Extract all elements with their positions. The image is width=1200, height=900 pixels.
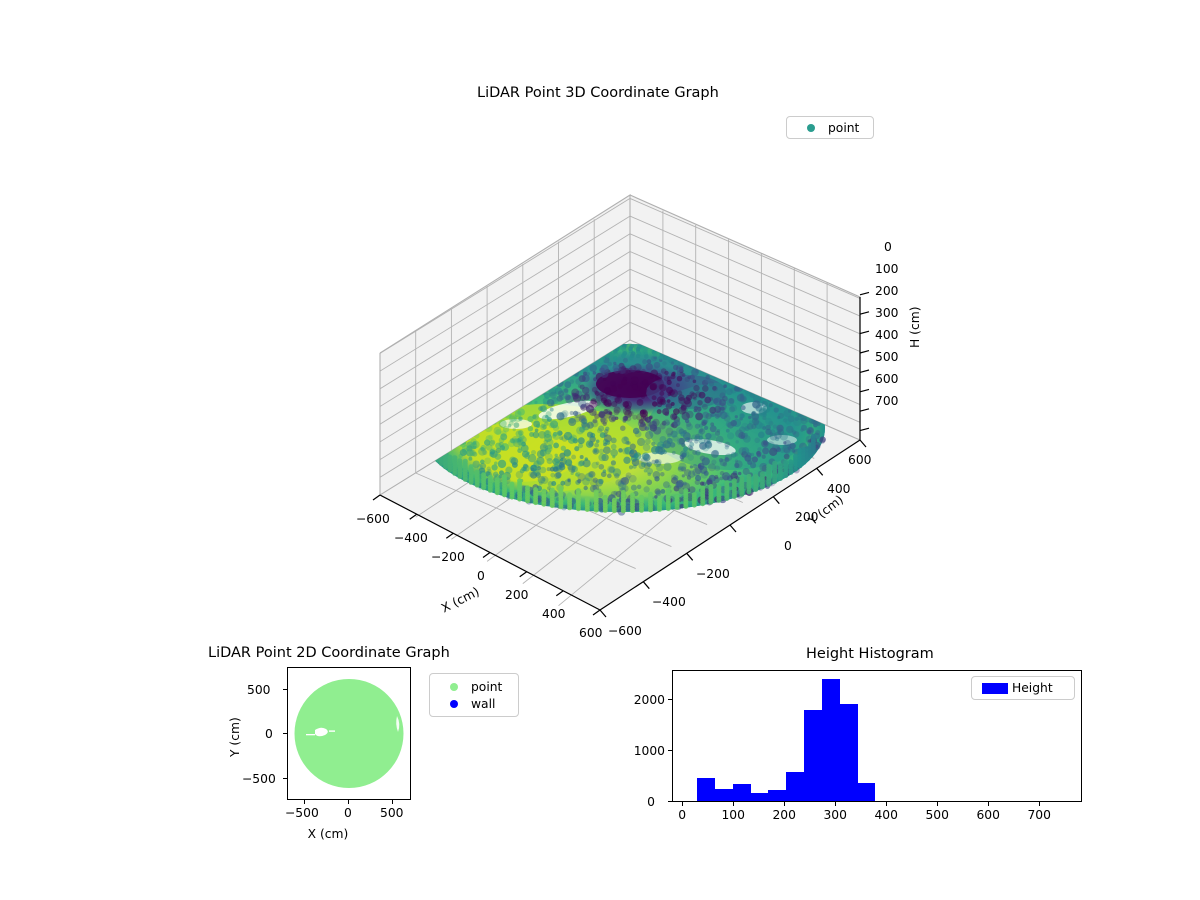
- chart3d-ytick-2: −200: [696, 567, 730, 581]
- chart3d-ytick-3: 0: [784, 539, 792, 553]
- histogram-bar: [822, 679, 840, 801]
- chart3d-xtick-3: 0: [477, 569, 485, 583]
- chart3d-xtick-4: 200: [505, 588, 528, 602]
- histogram-ytick-2: 2000: [634, 693, 665, 707]
- chart2d-yaxis-label: Y (cm): [228, 717, 242, 757]
- chart3d-ztick-1: 100: [875, 262, 898, 276]
- histogram-xtickmark-2: [784, 802, 785, 806]
- histogram-bar: [697, 778, 715, 801]
- chart3d-canvas: [330, 140, 890, 630]
- histogram-bar: [786, 772, 804, 801]
- chart2d-xtickmark-2: [392, 800, 393, 804]
- chart2d-ytick-0: −500: [242, 772, 276, 786]
- chart3d-title: LiDAR Point 3D Coordinate Graph: [477, 85, 719, 101]
- chart3d-ztick-0: 0: [884, 240, 892, 254]
- histogram-ytick-0: 0: [647, 795, 655, 809]
- chart2d-xtick-2: 500: [380, 806, 403, 820]
- chart3d-xtick-2: −200: [431, 550, 465, 564]
- chart3d-ztick-6: 600: [875, 372, 898, 386]
- histogram-xtickmark-5: [937, 802, 938, 806]
- legend-entry-point: point: [437, 678, 511, 695]
- histogram-ytickmark-2: [668, 699, 672, 700]
- histogram-xtickmark-3: [835, 802, 836, 806]
- histogram-ytickmark-0: [668, 801, 672, 802]
- histogram-bar: [751, 793, 769, 801]
- chart3d-ytick-0: −600: [608, 624, 642, 638]
- histogram-xtick-3: 300: [823, 808, 846, 822]
- chart3d-xtick-5: 400: [542, 607, 565, 621]
- histogram-bar: [715, 789, 733, 801]
- chart3d-ytick-6: 600: [848, 453, 871, 467]
- histogram-xtick-6: 600: [976, 808, 999, 822]
- chart3d-xtick-0: −600: [356, 512, 390, 526]
- histogram-ytick-1: 1000: [634, 744, 665, 758]
- point-marker-icon: [794, 124, 828, 132]
- histogram-legend[interactable]: Height: [971, 676, 1075, 700]
- histogram-bar: [858, 783, 876, 801]
- chart3d-legend[interactable]: point: [786, 116, 874, 139]
- chart2d-xtickmark-0: [304, 800, 305, 804]
- legend-entry-wall: wall: [437, 695, 511, 712]
- chart2d-xtick-1: 0: [344, 806, 352, 820]
- height-patch-icon: [978, 683, 1012, 694]
- chart3d-axes[interactable]: [330, 140, 890, 630]
- histogram-xtickmark-7: [1039, 802, 1040, 806]
- histogram-xtick-0: 0: [678, 808, 686, 822]
- histogram-xtick-4: 400: [874, 808, 897, 822]
- chart3d-ztick-4: 400: [875, 328, 898, 342]
- matplotlib-figure: LiDAR Point 3D Coordinate Graph point: [0, 0, 1200, 900]
- chart2d-ytickmark-1: [283, 733, 287, 734]
- histogram-bar: [804, 710, 822, 801]
- chart2d-axes[interactable]: [287, 667, 411, 800]
- histogram-xtick-1: 100: [721, 808, 744, 822]
- chart3d-xtick-1: −400: [394, 531, 428, 545]
- histogram-bar: [768, 790, 786, 801]
- chart3d-ztick-2: 200: [875, 284, 898, 298]
- legend-label-wall: wall: [471, 697, 495, 711]
- chart2d-ytick-1: 0: [265, 727, 273, 741]
- histogram-xtick-5: 500: [925, 808, 948, 822]
- chart2d-title: LiDAR Point 2D Coordinate Graph: [208, 645, 450, 661]
- chart3d-ztick-5: 500: [875, 350, 898, 364]
- chart2d-ytickmark-0: [283, 778, 287, 779]
- chart3d-ztick-7: 700: [875, 394, 898, 408]
- legend-label-point: point: [471, 680, 502, 694]
- histogram-xtickmark-6: [988, 802, 989, 806]
- point-marker-icon: [437, 683, 471, 691]
- chart2d-canvas: [288, 668, 410, 799]
- legend-label-point: point: [828, 121, 859, 135]
- chart3d-zaxis-label: H (cm): [908, 307, 922, 349]
- chart3d-ztick-3: 300: [875, 306, 898, 320]
- histogram-bar: [733, 784, 751, 801]
- wall-marker-icon: [437, 700, 471, 708]
- histogram-xtickmark-0: [682, 802, 683, 806]
- chart2d-xtickmark-1: [348, 800, 349, 804]
- chart2d-ytick-2: 500: [247, 683, 270, 697]
- legend-label-height: Height: [1012, 681, 1053, 695]
- histogram-xtick-7: 700: [1027, 808, 1050, 822]
- legend-entry-point: point: [794, 121, 866, 134]
- chart2d-legend[interactable]: point wall: [429, 673, 519, 717]
- histogram-xtick-2: 200: [772, 808, 795, 822]
- histogram-xtickmark-1: [733, 802, 734, 806]
- histogram-bar: [840, 704, 858, 802]
- histogram-xtickmark-4: [886, 802, 887, 806]
- histogram-ytickmark-1: [668, 750, 672, 751]
- chart3d-xtick-6: 600: [579, 626, 602, 640]
- point-disk: [295, 679, 404, 788]
- histogram-title: Height Histogram: [806, 646, 934, 662]
- chart2d-ytickmark-2: [283, 689, 287, 690]
- chart2d-xtick-0: −500: [285, 806, 319, 820]
- chart3d-ytick-1: −400: [652, 595, 686, 609]
- legend-entry-height: Height: [978, 681, 1068, 695]
- chart2d-xaxis-label: X (cm): [308, 827, 349, 841]
